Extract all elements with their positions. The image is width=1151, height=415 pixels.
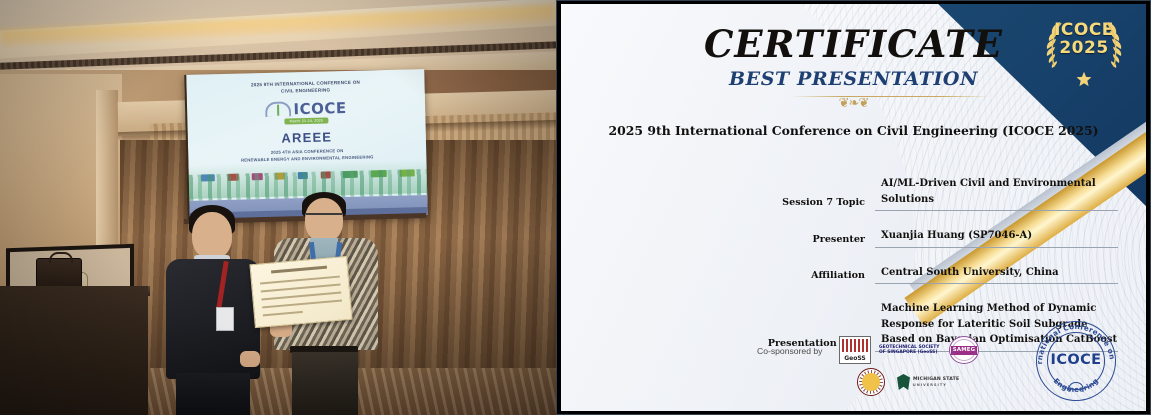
dark-table: [0, 286, 148, 415]
conference-name: 2025 9th International Conference on Civ…: [561, 123, 1146, 138]
sponsor-logo-group: GeoSS GEOTECHNICAL SOCIETY OF SINGAPORE …: [839, 336, 1019, 400]
spartan-helmet-icon: [897, 374, 910, 390]
arch-bridge-icon: [265, 101, 291, 117]
certificate-subtitle: BEST PRESENTATION: [561, 68, 1146, 90]
field-value-presenter: Xuanjia Huang (SP7046-A): [875, 228, 1118, 248]
slide-icoce-text: ICOCE: [293, 99, 347, 118]
held-certificate-heading: [271, 266, 327, 274]
sameg-globe-icon: [952, 339, 976, 361]
michigan-state-logo: MICHIGAN STATE UNIVERSITY: [897, 374, 959, 390]
field-label-session-topic: Session 7 Topic: [757, 197, 875, 211]
award-ceremony-photo: 2025 9TH INTERNATIONAL CONFERENCE ON CIV…: [0, 0, 556, 415]
co-sponsored-by-label: Co-sponsored by: [757, 346, 822, 356]
field-value-session-topic: AI/ML-Driven Civil and Environmental Sol…: [875, 176, 1118, 211]
geoss-logo: GeoSS: [839, 336, 871, 364]
sponsor-logo-row-1: GeoSS GEOTECHNICAL SOCIETY OF SINGAPORE …: [839, 336, 1019, 364]
certificate-body: ICOCE 2025: [561, 4, 1146, 411]
face: [192, 212, 232, 259]
slide-title: 2025 9TH INTERNATIONAL CONFERENCE ON CIV…: [186, 78, 424, 98]
field-label-presenter: Presenter: [757, 234, 875, 248]
seal-emblem-icon: [1069, 382, 1084, 392]
msu-logo-text: MICHIGAN STATE UNIVERSITY: [913, 377, 959, 387]
field-value-affiliation: Central South University, China: [875, 265, 1118, 285]
hand-left: [240, 351, 260, 367]
geoss-mark: [842, 339, 868, 352]
university-crest-logo: [857, 368, 885, 396]
field-row: Affiliation Central South University, Ch…: [757, 265, 1118, 285]
briefcase-handle: [49, 252, 73, 263]
geoss-logo-text: GeoSS: [840, 355, 870, 362]
field-label-affiliation: Affiliation: [757, 270, 875, 284]
msu-subname: UNIVERSITY: [913, 383, 959, 387]
eyeglasses: [306, 213, 342, 222]
msu-name: MICHIGAN STATE: [913, 377, 959, 382]
badge-card: [216, 307, 234, 331]
slide-areee-title: AREEE: [188, 127, 426, 148]
seal-center-text: ICOCE: [1036, 352, 1116, 368]
icoce-official-seal: International Conference on Civil Engine…: [1036, 321, 1116, 401]
sameg-logo: SAMEG: [949, 336, 979, 364]
trousers: [176, 373, 250, 415]
held-certificate: [249, 256, 352, 328]
screenshot-root: 2025 9TH INTERNATIONAL CONFERENCE ON CIV…: [0, 0, 1151, 415]
sponsor-logo-row-2: MICHIGAN STATE UNIVERSITY: [839, 368, 1019, 396]
ornament-divider: ❦❧❦: [561, 96, 1146, 111]
trousers: [292, 352, 358, 415]
field-row: Session 7 Topic AI/ML-Driven Civil and E…: [757, 176, 1118, 211]
geoss-full-name: GEOTECHNICAL SOCIETY OF SINGAPORE (GeoSS…: [879, 345, 941, 356]
field-row: Presenter Xuanjia Huang (SP7046-A): [757, 228, 1118, 248]
crest-center: [862, 373, 880, 391]
certificate-title: CERTIFICATE: [561, 22, 1146, 66]
certificate-panel: ICOCE 2025: [556, 0, 1151, 415]
